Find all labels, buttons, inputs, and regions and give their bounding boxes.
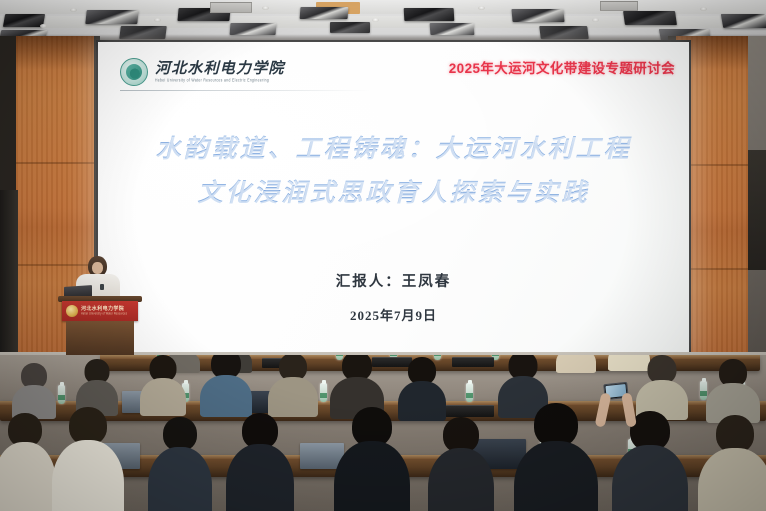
audience-member <box>226 413 294 511</box>
audience-member <box>334 407 410 511</box>
audience-member <box>0 413 56 511</box>
audience-member <box>706 359 760 419</box>
title-line-1: 水韵载道、工程铸魂：大运河水利工程 <box>98 127 689 171</box>
audience-member <box>52 407 124 511</box>
presenter-name: 汇报人：王凤春 <box>98 270 689 291</box>
university-seal-icon <box>120 58 148 86</box>
audience-member <box>514 403 598 511</box>
audience-member <box>330 355 384 415</box>
name-plate <box>444 405 494 417</box>
audience-area <box>0 355 766 511</box>
podium-sign: 河北水利电力学院 Hebei University of Water Resou… <box>62 301 138 321</box>
audience-member <box>200 355 252 415</box>
presentation-date: 2025年7月9日 <box>98 305 689 324</box>
podium: 河北水利电力学院 Hebei University of Water Resou… <box>62 296 138 360</box>
audience-member <box>556 355 596 369</box>
university-name-en: Hebei University of Water Resources and … <box>155 79 285 83</box>
audience-member <box>12 363 56 415</box>
presenter-block: 汇报人：王凤春 2025年7月9日 <box>98 270 689 324</box>
audience-member <box>612 411 688 511</box>
audience-member <box>148 417 212 511</box>
audience-member <box>140 355 186 413</box>
university-emblem-icon <box>66 305 78 317</box>
slide-title: 水韵载道、工程铸魂：大运河水利工程 文化浸润式思政育人探索与实践 <box>98 127 689 215</box>
university-name-cn: 河北水利电力学院 <box>155 61 285 76</box>
name-plate <box>452 357 494 367</box>
projection-screen: 河北水利电力学院 Hebei University of Water Resou… <box>98 42 689 358</box>
conference-photo: 河北水利电力学院 Hebei University of Water Resou… <box>0 0 766 511</box>
conference-banner-text: 2025年大运河文化带建设专题研讨会 <box>449 57 675 77</box>
podium-sign-en: Hebei University of Water Resources <box>81 313 127 316</box>
left-doorway <box>0 190 18 370</box>
university-logo: 河北水利电力学院 Hebei University of Water Resou… <box>120 58 285 86</box>
audience-member <box>268 355 318 415</box>
audience-member <box>636 355 688 417</box>
header-divider <box>120 90 370 91</box>
audience-member <box>698 415 766 511</box>
audience-member <box>428 417 494 511</box>
title-line-2: 文化浸润式思政育人探索与实践 <box>98 171 689 215</box>
